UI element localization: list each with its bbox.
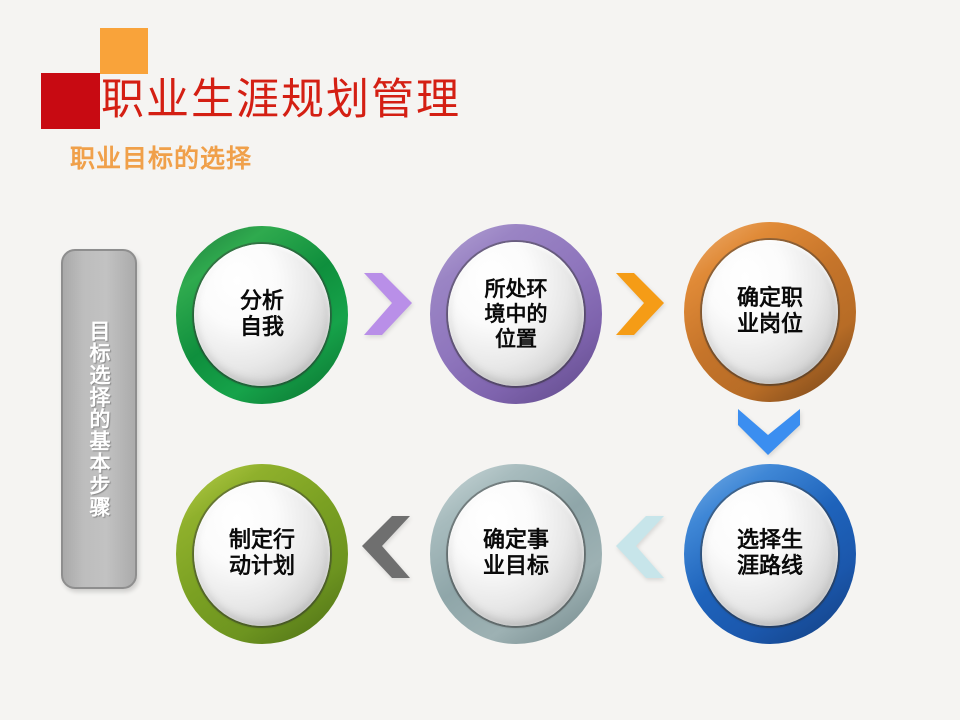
arrow-set-career-goal-to-make-action-plan <box>358 514 416 582</box>
steps-side-bar-label: 目标选择的基本步骤 <box>63 251 135 587</box>
node-set-career-goal-label: 确定事 业目标 <box>483 528 549 580</box>
node-make-action-plan[interactable]: 制定行 动计划 <box>176 464 348 644</box>
node-set-career-goal[interactable]: 确定事 业目标 <box>430 464 602 644</box>
node-choose-career-path[interactable]: 选择生 涯路线 <box>684 464 856 644</box>
arrow-determine-job-post-to-choose-career-path <box>736 405 804 461</box>
node-analyze-self[interactable]: 分析 自我 <box>176 226 348 404</box>
decorative-red-square <box>41 73 100 129</box>
arrow-choose-career-path-to-set-career-goal <box>612 514 670 582</box>
arrow-analyze-self-to-position-in-env <box>360 271 418 339</box>
node-position-in-env[interactable]: 所处环 境中的 位置 <box>430 224 602 404</box>
slide-canvas: 职业生涯规划管理 职业目标的选择 目标选择的基本步骤 分析 自我 所处环 境中的… <box>0 0 960 720</box>
node-choose-career-path-label: 选择生 涯路线 <box>737 528 803 580</box>
node-make-action-plan-label: 制定行 动计划 <box>229 528 295 580</box>
node-determine-job-post-label: 确定职 业岗位 <box>737 286 803 338</box>
decorative-orange-square <box>100 28 148 74</box>
node-position-in-env-label: 所处环 境中的 位置 <box>485 277 548 352</box>
page-title: 职业生涯规划管理 <box>101 72 461 128</box>
page-subtitle: 职业目标的选择 <box>70 144 252 174</box>
arrow-position-in-env-to-determine-job-post <box>612 271 670 339</box>
steps-side-bar: 目标选择的基本步骤 <box>61 249 137 589</box>
node-determine-job-post[interactable]: 确定职 业岗位 <box>684 222 856 402</box>
node-analyze-self-label: 分析 自我 <box>240 289 284 341</box>
